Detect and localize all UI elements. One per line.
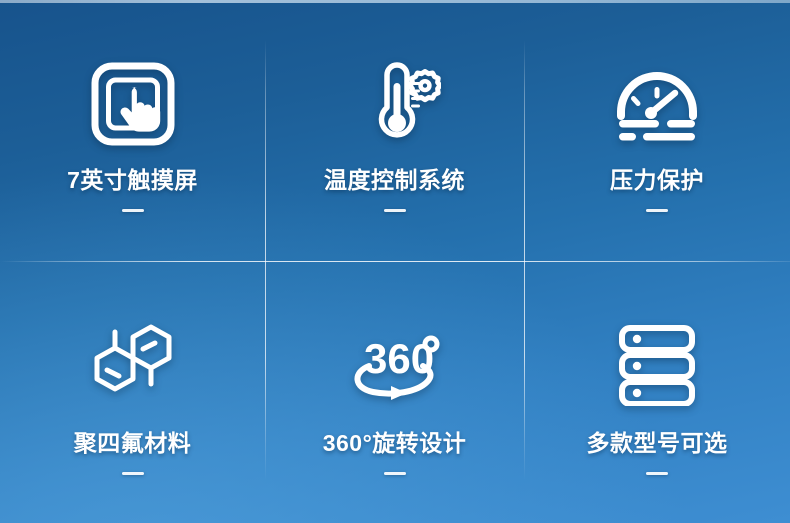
feature-divider-dash	[646, 209, 668, 212]
feature-label: 温度控制系统	[324, 169, 465, 192]
feature-grid: 7英寸触摸屏	[0, 0, 790, 523]
feature-label: 多款型号可选	[587, 432, 728, 455]
feature-cell-rotation-design[interactable]: 360 360°旋转设计	[265, 261, 524, 523]
feature-cell-multiple-models[interactable]: 多款型号可选	[524, 261, 790, 523]
molecule-hexagon-icon	[83, 314, 183, 406]
feature-label: 压力保护	[610, 169, 704, 192]
feature-label: 7英寸触摸屏	[67, 169, 198, 192]
feature-divider-dash	[122, 472, 144, 475]
pressure-gauge-icon	[611, 55, 703, 147]
feature-label: 聚四氟材料	[74, 432, 192, 455]
feature-cell-touchscreen[interactable]: 7英寸触摸屏	[0, 0, 265, 261]
rotate-360-icon: 360	[343, 314, 447, 406]
feature-divider-dash	[384, 209, 406, 212]
feature-divider-dash	[384, 472, 406, 475]
feature-divider-dash	[646, 472, 668, 475]
feature-label: 360°旋转设计	[323, 432, 467, 455]
feature-cell-temperature-control[interactable]: 温度控制系统	[265, 0, 524, 261]
touchscreen-icon	[90, 55, 176, 147]
thermometer-gear-icon	[349, 55, 441, 147]
feature-cell-pressure-protection[interactable]: 压力保护	[524, 0, 790, 261]
server-stack-icon	[616, 314, 698, 406]
feature-banner: 7英寸触摸屏	[0, 0, 790, 523]
feature-divider-dash	[122, 209, 144, 212]
feature-cell-ptfe-material[interactable]: 聚四氟材料	[0, 261, 265, 523]
